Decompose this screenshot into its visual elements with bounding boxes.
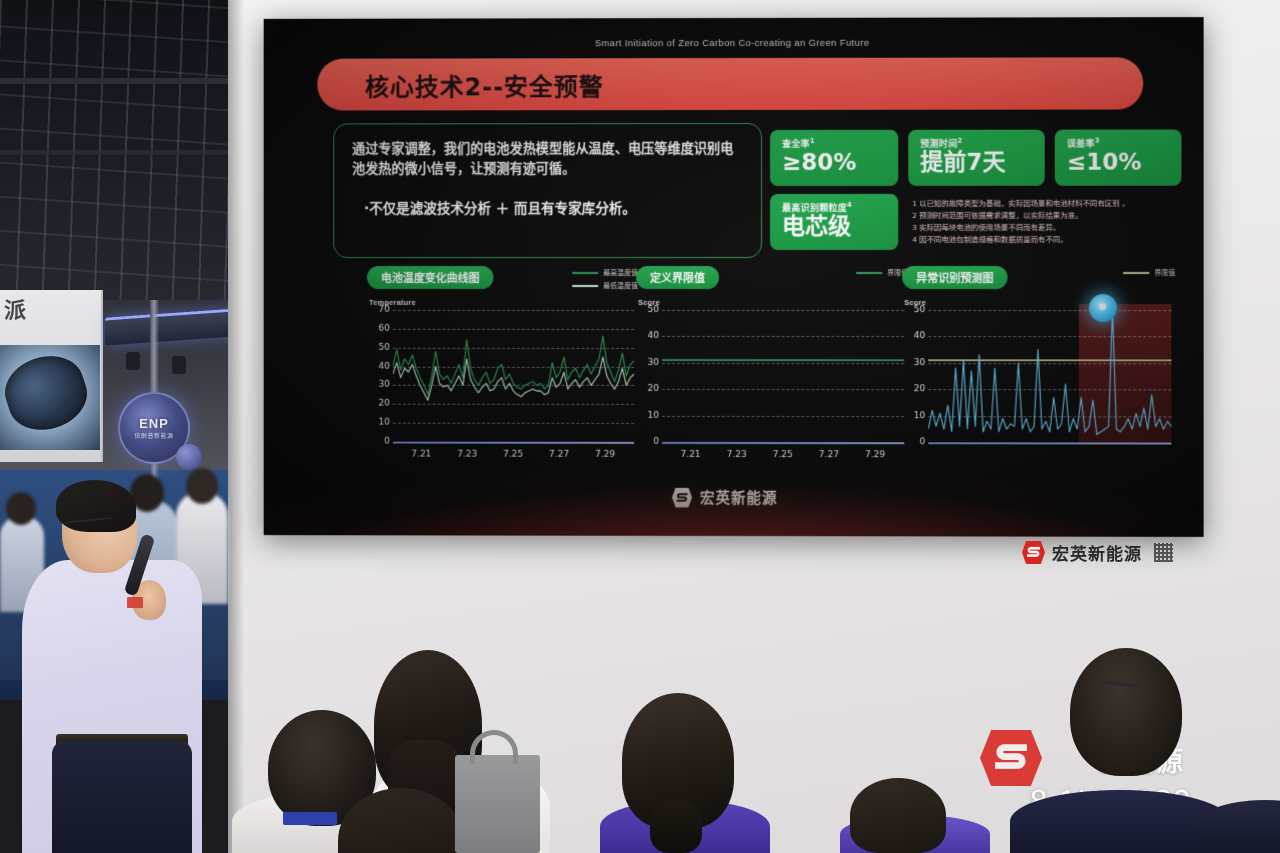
legend-swatch (572, 272, 598, 274)
stat-label: 最高识别颗粒度4 (782, 201, 888, 214)
chart-legend: 界限值 (1123, 268, 1175, 278)
stat-value: ≤10% (1067, 151, 1172, 176)
legend-entry: 界限值 (1123, 268, 1175, 278)
legend-label: 最低温度值 (603, 281, 638, 291)
y-axis-tick: 20 (902, 384, 925, 394)
chart-threshold-definition: 定义界限值 界限值 Score 010203040507.217.237.257… (636, 266, 908, 474)
stat-value: ≥80% (782, 151, 888, 176)
x-axis-tick: 7.29 (595, 450, 615, 460)
x-axis-tick: 7.29 (865, 450, 885, 460)
x-axis-tick: 7.23 (457, 450, 477, 460)
x-axis-tick: 7.25 (773, 450, 793, 460)
audience-member-ponytail (650, 800, 702, 853)
presenter-shirt-logo (127, 597, 143, 608)
y-axis-tick: 0 (636, 437, 659, 447)
background-attendee-head (6, 492, 36, 525)
slide-body-paragraph: 通过专家调整，我们的电池发热模型能从温度、电压等维度识别电池发热的微小信号，让预… (352, 140, 745, 181)
chart-legend: 最高温度值 最低温度值 (572, 268, 638, 291)
x-axis-tick: 7.21 (411, 450, 431, 460)
footnote-item: 3 实际因每块电池的使用场景不同而有差异。 (912, 222, 1185, 234)
stat-card-granularity: 最高识别颗粒度4 电芯级 (770, 194, 898, 250)
y-axis-tick: 30 (902, 358, 925, 368)
stat-label: 查全率1 (782, 137, 888, 150)
enp-logo-accent-dot (176, 444, 202, 470)
wall-brand-lockup: 宏英新能源 (1022, 540, 1173, 565)
slide-footnotes: 1 以已知的故障类型为基础，实际因场景和电池材料不同有区别 。 2 预测时间范围… (912, 198, 1185, 246)
y-axis-tick: 20 (636, 384, 659, 394)
legend-swatch (856, 272, 882, 274)
kiosk-brand-label: 派 (4, 293, 27, 325)
chart-title-badge: 电池温度变化曲线图 (367, 266, 493, 289)
stat-label: 预测时间2 (920, 137, 1034, 150)
hex-s-logo-icon (672, 487, 692, 507)
background-attendee-head (186, 468, 218, 504)
y-axis-tick: 70 (367, 305, 390, 315)
wall-edge-shadow (228, 0, 244, 853)
chart-plot-area: 01020304050 (928, 310, 1171, 442)
footnote-item: 4 因不同电池包制造规格和数据质量而有不同。 (912, 234, 1185, 246)
slide-body-box: 通过专家调整，我们的电池发热模型能从温度、电压等维度识别电池发热的微小信号，让预… (333, 123, 762, 258)
footnote-item: 2 预测时间范围可依据需求调整，以实际结果为准。 (912, 210, 1185, 222)
chart-plot-area: 0102030405060707.217.237.257.277.29 (393, 310, 634, 442)
wall-brand-name: 宏英新能源 (1052, 540, 1142, 565)
y-axis-tick: 40 (902, 331, 925, 341)
y-axis-tick: 40 (636, 331, 659, 341)
spotlight (172, 356, 186, 374)
y-axis-tick: 0 (902, 437, 925, 447)
chart-title-badge: 异常识别预测图 (902, 266, 1007, 289)
legend-swatch (572, 285, 598, 287)
y-axis-tick: 50 (902, 305, 925, 315)
x-axis-tick: 7.27 (549, 450, 569, 460)
y-axis-tick: 10 (367, 418, 390, 428)
stat-card-error-rate: 误差率3 ≤10% (1055, 130, 1182, 186)
y-axis-tick: 30 (636, 358, 659, 368)
y-axis-tick: 20 (367, 399, 390, 409)
y-axis-tick: 50 (636, 305, 659, 315)
slide-subtitle: Smart Initiation of Zero Carbon Co-creat… (264, 37, 1204, 50)
audience-member-head (1070, 648, 1182, 776)
stat-value: 提前7天 (920, 151, 1034, 176)
chart-line-series (393, 357, 634, 400)
slide-title: 核心技术2--安全预警 (365, 67, 604, 102)
y-axis-tick: 50 (367, 343, 390, 353)
chart-plot-area: 010203040507.217.237.257.277.29 (662, 310, 904, 442)
legend-swatch (1123, 272, 1149, 274)
lanyard-badge (283, 812, 337, 825)
x-axis-line (393, 442, 634, 444)
y-axis-tick: 30 (367, 380, 390, 390)
legend-entry: 最低温度值 (572, 281, 638, 291)
chart-battery-temperature: 电池温度变化曲线图 最高温度值 最低温度值 Temperature 010203… (367, 266, 638, 474)
chart-anomaly-prediction: 异常识别预测图 界限值 Score 01020304050 (902, 266, 1175, 475)
legend-entry: 界限值 (856, 268, 908, 278)
chart-legend: 界限值 (856, 268, 908, 278)
presenter-trousers (52, 740, 192, 853)
y-axis-tick: 60 (367, 324, 390, 334)
legend-entry: 最高温度值 (572, 268, 638, 278)
kiosk-product-display (0, 345, 100, 450)
y-axis-tick: 40 (367, 361, 390, 371)
stat-card-recall: 查全率1 ≥80% (770, 130, 898, 186)
slide-title-banner: 核心技术2--安全预警 (317, 57, 1143, 110)
slide-brand-name: 宏英新能源 (700, 487, 778, 508)
slide-brand-lockup: 宏英新能源 (672, 487, 777, 508)
enp-logo-main: ENP (139, 416, 169, 431)
y-axis-tick: 0 (367, 437, 390, 447)
qr-code-icon (1154, 543, 1173, 562)
legend-label: 最高温度值 (603, 268, 638, 278)
chart-title-badge: 定义界限值 (636, 266, 719, 289)
stat-card-lead-time: 预测时间2 提前7天 (908, 130, 1044, 186)
hex-s-logo-icon (1022, 541, 1045, 564)
x-axis-tick: 7.21 (681, 450, 701, 460)
x-axis-line (928, 442, 1171, 444)
tote-bag (455, 755, 540, 853)
chart-line-series (393, 336, 634, 395)
chart-line-series (928, 310, 1171, 435)
spotlight (126, 352, 140, 370)
enp-logo-sub: 依耐普新能源 (134, 431, 173, 440)
x-axis-tick: 7.25 (503, 450, 523, 460)
stat-value: 电芯级 (782, 215, 888, 240)
slide-body-bullet: ·不仅是滤波技术分析 ＋ 而且有专家库分析。 (352, 197, 745, 217)
x-axis-tick: 7.27 (819, 450, 839, 460)
x-axis-tick: 7.23 (727, 450, 747, 460)
x-axis-line (662, 442, 904, 444)
chart-series-canvas (393, 310, 634, 442)
presentation-slide: Smart Initiation of Zero Carbon Co-creat… (264, 17, 1204, 537)
wall-large-logo-mark (980, 730, 1042, 786)
exhibition-photo-scene: 派 ENP 依耐普新能源 Smart Initiation of Zero Ca… (0, 0, 1280, 853)
y-axis-tick: 10 (902, 411, 925, 421)
y-axis-tick: 10 (636, 410, 659, 420)
chart-series-canvas (928, 310, 1171, 442)
legend-label: 界限值 (1154, 268, 1175, 278)
footnote-item: 1 以已知的故障类型为基础，实际因场景和电池材料不同有区别 。 (912, 198, 1185, 210)
chart-series-canvas (662, 310, 904, 442)
stat-label: 误差率3 (1067, 137, 1172, 150)
audience-member-head (850, 778, 946, 853)
